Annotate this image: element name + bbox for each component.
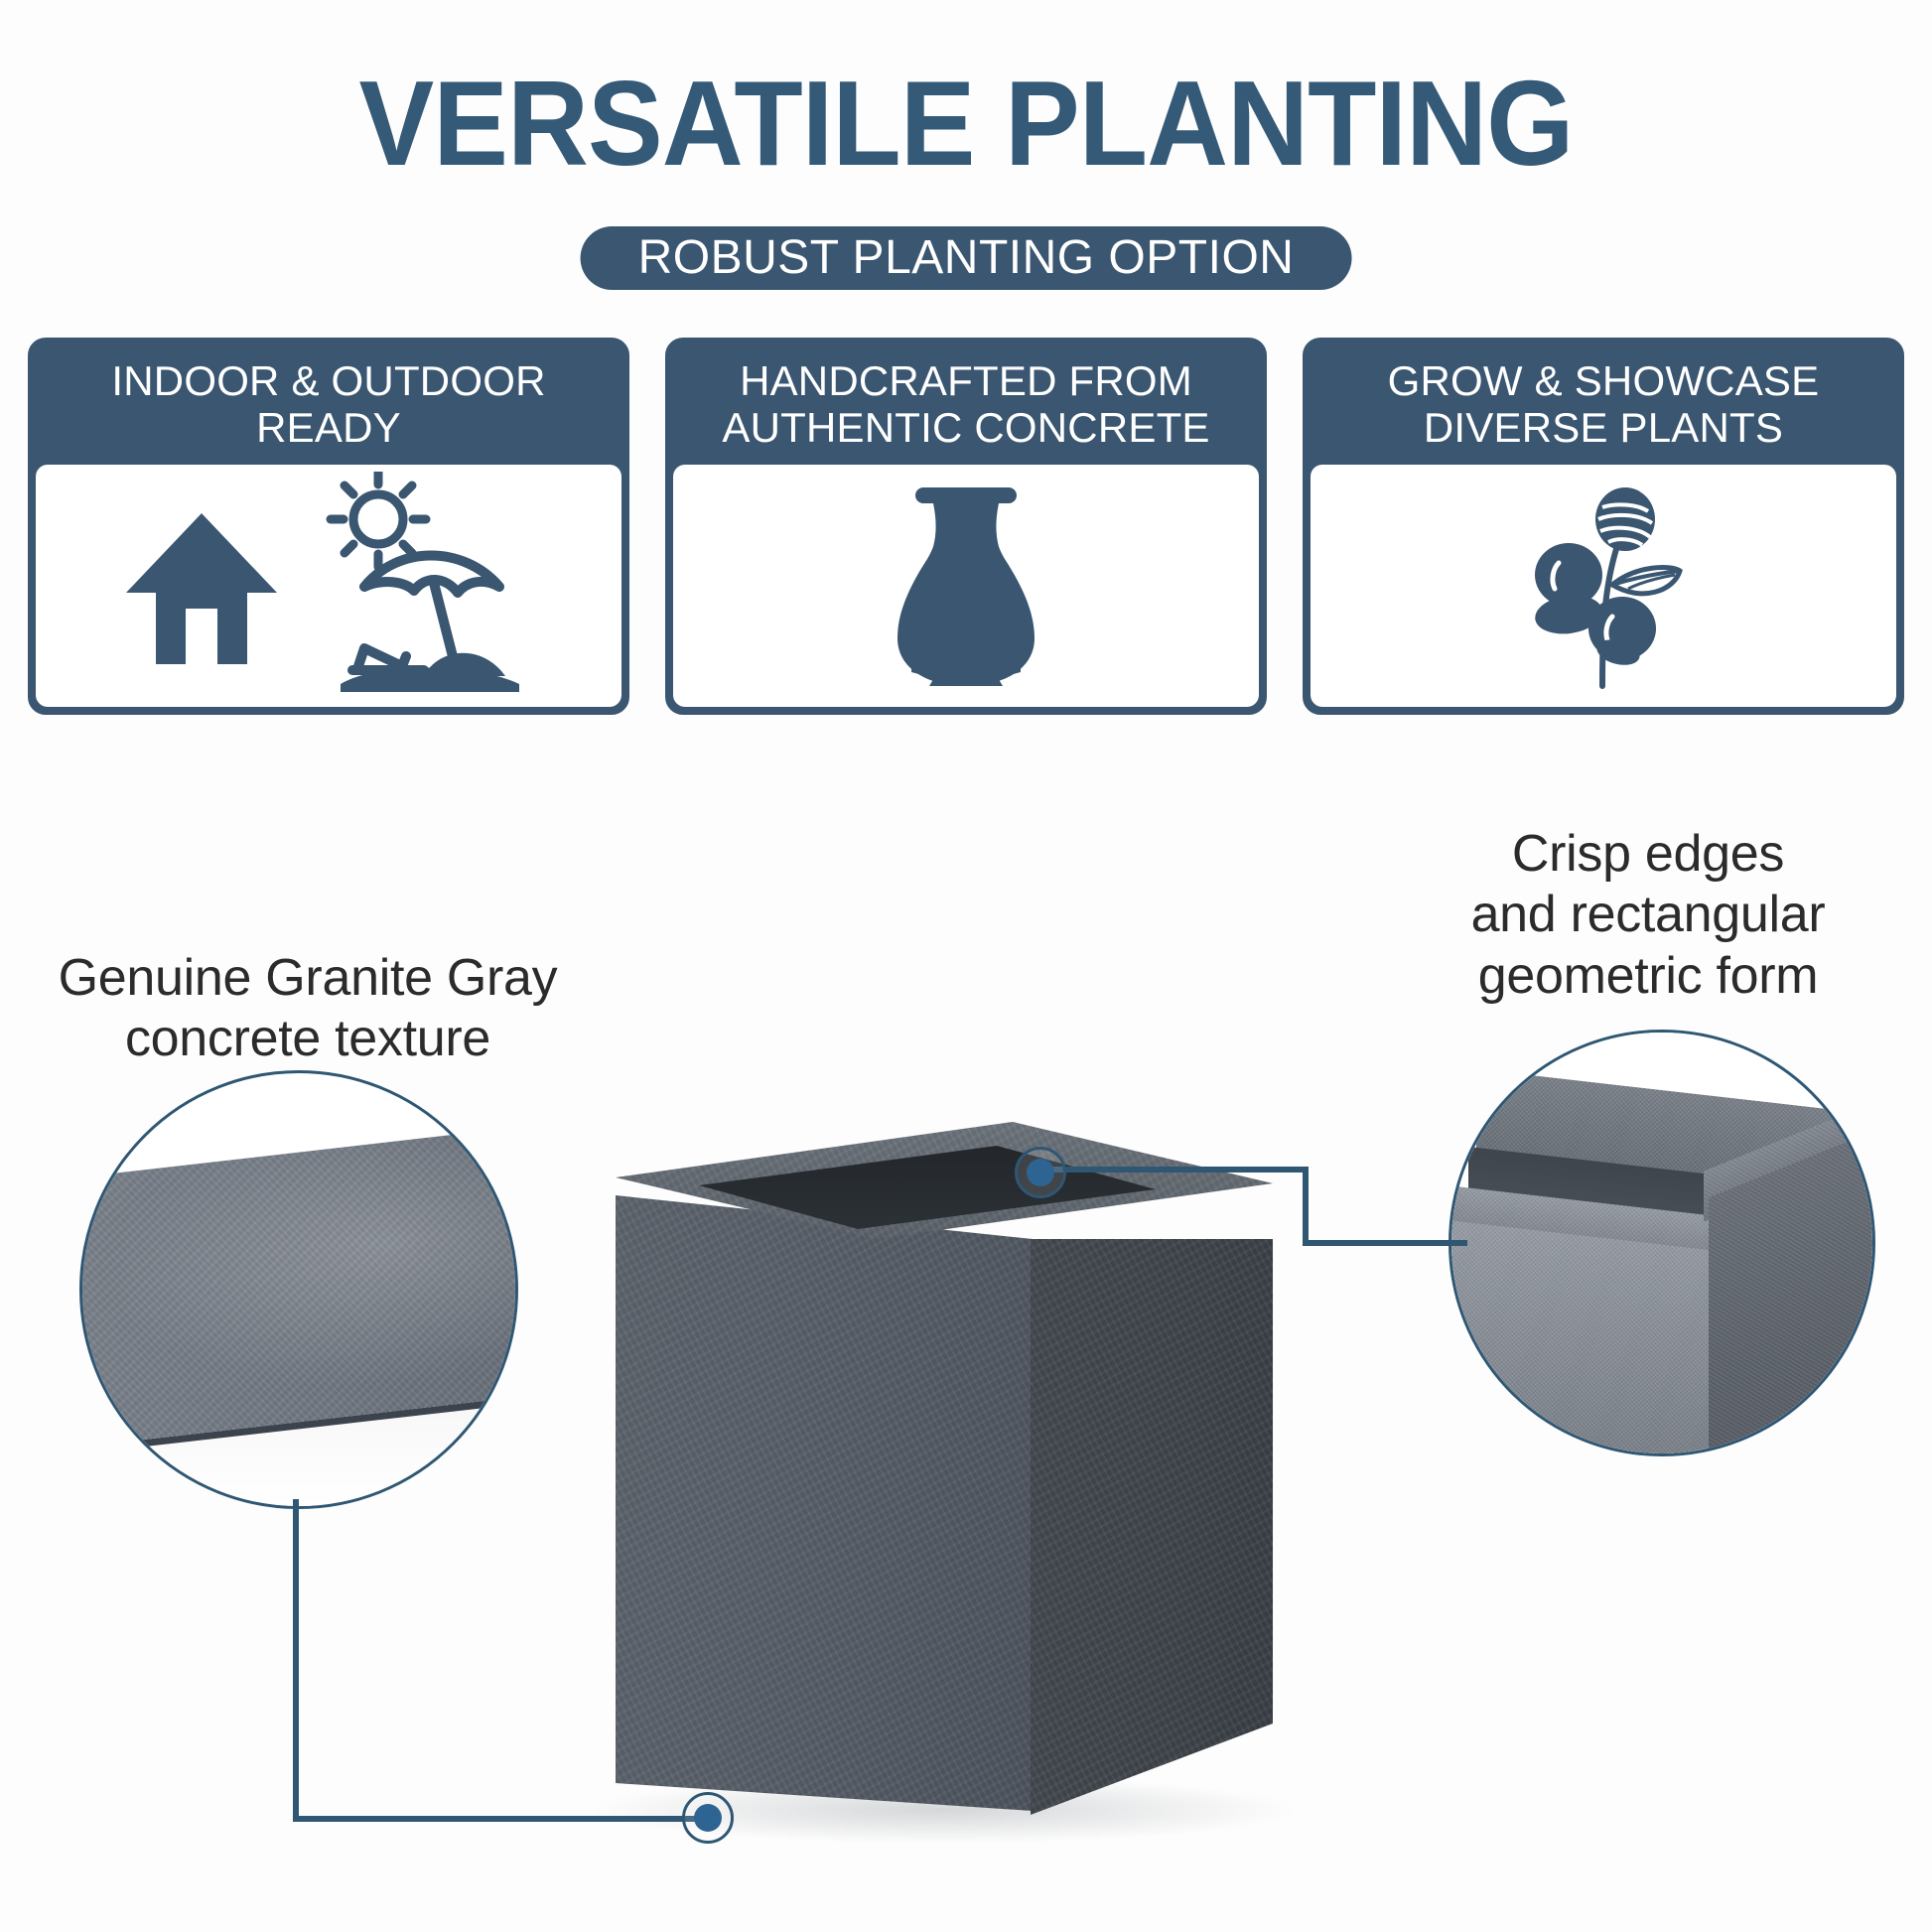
planter-side-face	[1031, 1239, 1273, 1815]
detail-circle-edges	[1449, 1030, 1875, 1456]
feature-card-plants: GROW & SHOWCASE DIVERSE PLANTS	[1303, 338, 1904, 715]
callout-line: geometric form	[1380, 946, 1916, 1007]
feature-card-concrete: HANDCRAFTED FROM AUTHENTIC CONCRETE	[665, 338, 1267, 715]
planter-front-face	[616, 1195, 1033, 1811]
wall-front	[1449, 1218, 1721, 1456]
feature-card-icons	[1311, 465, 1896, 707]
feature-card-title: GROW & SHOWCASE DIVERSE PLANTS	[1307, 342, 1900, 465]
corner-edge-closeup	[1451, 1033, 1872, 1453]
detail-circle-texture	[79, 1070, 518, 1509]
callout-label-edges: Crisp edges and rectangular geometric fo…	[1380, 824, 1916, 1007]
feature-card-indoor-outdoor: INDOOR & OUTDOOR READY	[28, 338, 629, 715]
sun-beach-group	[307, 472, 535, 700]
house-icon	[122, 501, 281, 670]
page-title: VERSATILE PLANTING	[68, 60, 1864, 187]
callout-line: concrete texture	[10, 1009, 606, 1069]
feature-card-title: HANDCRAFTED FROM AUTHENTIC CONCRETE	[669, 342, 1263, 465]
infographic-canvas: VERSATILE PLANTING ROBUST PLANTING OPTIO…	[0, 0, 1932, 1932]
feature-card-title: INDOOR & OUTDOOR READY	[32, 342, 625, 465]
feature-card-icons	[673, 465, 1259, 707]
callout-line: Crisp edges	[1380, 824, 1916, 885]
beach-umbrella-icon	[352, 556, 499, 671]
vase-icon	[872, 482, 1060, 690]
callout-line: and rectangular	[1380, 885, 1916, 945]
subtitle-badge: ROBUST PLANTING OPTION	[581, 226, 1352, 290]
marker-dot-edges[interactable]	[1015, 1147, 1066, 1198]
callout-label-texture: Genuine Granite Gray concrete texture	[10, 948, 606, 1070]
concrete-texture-closeup	[79, 1121, 518, 1449]
striped-berry	[1595, 487, 1655, 551]
berry-sprig-icon	[1497, 480, 1711, 693]
feature-card-icons	[36, 465, 621, 707]
callout-line: Genuine Granite Gray	[10, 948, 606, 1009]
marker-dot-texture[interactable]	[682, 1792, 734, 1844]
product-image-planter	[616, 1122, 1271, 1827]
feature-card-row: INDOOR & OUTDOOR READY	[28, 338, 1904, 715]
